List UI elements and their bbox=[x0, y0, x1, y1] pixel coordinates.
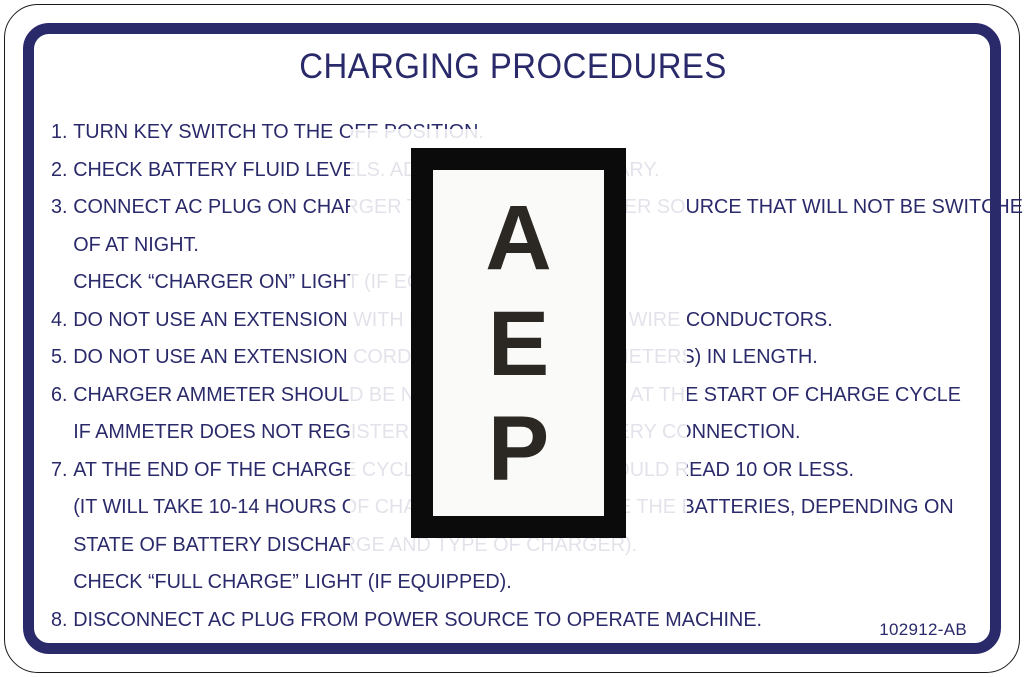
label-card: CHARGING PROCEDURES 1.TURN KEY SWITCH TO… bbox=[4, 4, 1020, 673]
procedure-number: 8. bbox=[51, 601, 73, 639]
procedure-text: (IT WILL TAKE 10-14 HOURS OF CHARGING TO… bbox=[73, 495, 953, 518]
procedure-number: 3. bbox=[51, 188, 73, 226]
procedure-line: 6.CHARGER AMMETER SHOULD BE NEAR MAXIMUM… bbox=[51, 376, 948, 414]
procedure-text: OF AT NIGHT. bbox=[73, 233, 199, 256]
procedure-line: 8.DISCONNECT AC PLUG FROM POWER SOURCE T… bbox=[51, 601, 948, 639]
page-title: CHARGING PROCEDURES bbox=[35, 47, 990, 87]
procedure-line: 1.TURN KEY SWITCH TO THE OFF POSITION. bbox=[51, 113, 948, 151]
procedure-line: 2.CHECK BATTERY FLUID LEVELS. ADD WATER … bbox=[51, 151, 948, 189]
procedure-text: CONNECT AC PLUG ON CHARGER TO A GROUNDED… bbox=[73, 195, 1024, 218]
procedure-number: 1. bbox=[51, 113, 73, 151]
part-number: 102912-AB bbox=[879, 620, 967, 640]
procedure-text: DO NOT USE AN EXTENSION WITH LESS THAN 1… bbox=[73, 308, 833, 331]
procedure-line: (IT WILL TAKE 10-14 HOURS OF CHARGING TO… bbox=[51, 488, 948, 526]
procedure-line: 7.AT THE END OF THE CHARGE CYCLE, THE AM… bbox=[51, 451, 948, 489]
procedure-number: 2. bbox=[51, 151, 73, 189]
procedure-line: STATE OF BATTERY DISCHARGE AND TYPE OF C… bbox=[51, 526, 948, 564]
procedure-line: CHECK “FULL CHARGE” LIGHT (IF EQUIPPED). bbox=[51, 563, 948, 601]
procedure-text: IF AMMETER DOES NOT REGISTER CHECK AC AN… bbox=[73, 420, 800, 443]
procedure-list: 1.TURN KEY SWITCH TO THE OFF POSITION.2.… bbox=[51, 113, 981, 638]
procedure-number: 4. bbox=[51, 301, 73, 339]
procedure-text: CHECK “CHARGER ON” LIGHT (IF EQUIPPED). bbox=[73, 270, 508, 293]
procedure-number: 6. bbox=[51, 376, 73, 414]
procedure-line: 5.DO NOT USE AN EXTENSION CORD OVER 50 F… bbox=[51, 338, 948, 376]
procedure-text: STATE OF BATTERY DISCHARGE AND TYPE OF C… bbox=[73, 533, 637, 556]
procedure-line: IF AMMETER DOES NOT REGISTER CHECK AC AN… bbox=[51, 413, 948, 451]
procedure-line: 4.DO NOT USE AN EXTENSION WITH LESS THAN… bbox=[51, 301, 948, 339]
procedure-number: 7. bbox=[51, 451, 73, 489]
procedure-number: 5. bbox=[51, 338, 73, 376]
procedure-text: DISCONNECT AC PLUG FROM POWER SOURCE TO … bbox=[73, 608, 762, 631]
procedure-text: CHARGER AMMETER SHOULD BE NEAR MAXIMUM V… bbox=[73, 383, 961, 406]
procedure-line: CHECK “CHARGER ON” LIGHT (IF EQUIPPED). bbox=[51, 263, 948, 301]
label-content: CHARGING PROCEDURES 1.TURN KEY SWITCH TO… bbox=[5, 5, 1021, 674]
procedure-text: CHECK “FULL CHARGE” LIGHT (IF EQUIPPED). bbox=[73, 570, 512, 593]
procedure-line: OF AT NIGHT. bbox=[51, 226, 948, 264]
procedure-text: DO NOT USE AN EXTENSION CORD OVER 50 FEE… bbox=[73, 345, 818, 368]
procedure-text: CHECK BATTERY FLUID LEVELS. ADD WATER IF… bbox=[73, 158, 659, 181]
procedure-text: TURN KEY SWITCH TO THE OFF POSITION. bbox=[73, 120, 484, 143]
procedure-line: 3.CONNECT AC PLUG ON CHARGER TO A GROUND… bbox=[51, 188, 948, 226]
procedure-text: AT THE END OF THE CHARGE CYCLE, THE AMME… bbox=[73, 458, 854, 481]
